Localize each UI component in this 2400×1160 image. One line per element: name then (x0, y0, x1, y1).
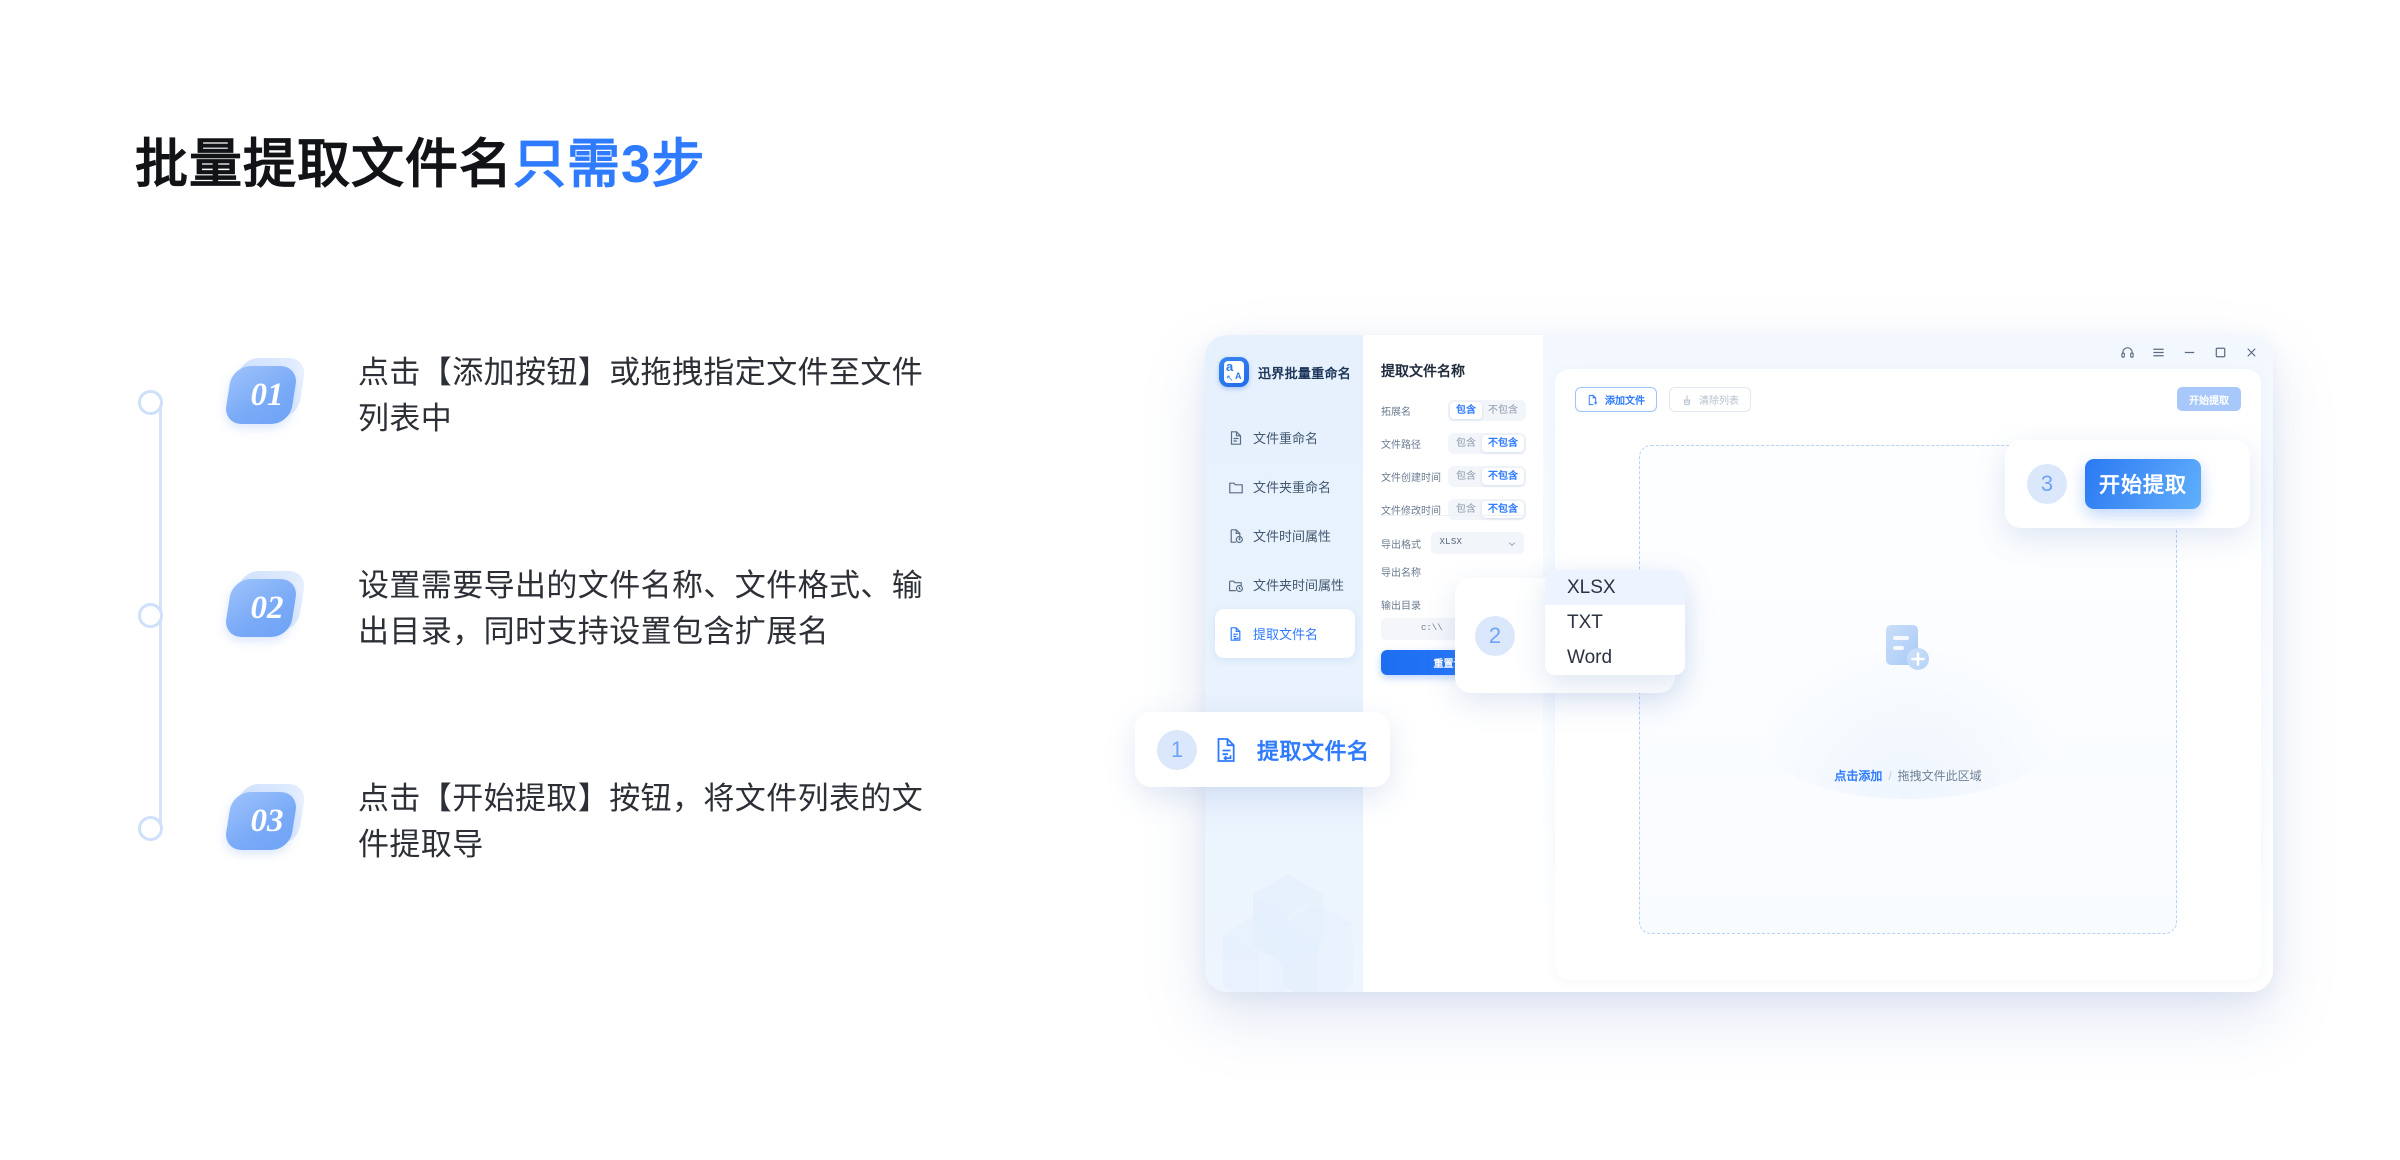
export-format-value: XLSX (1439, 537, 1462, 547)
dropzone-hint: 拖拽文件此区域 (1898, 769, 1982, 783)
brand: a ↖ A 迅界批量重命名 (1219, 357, 1351, 387)
app-sidebar: a ↖ A 迅界批量重命名 文件重命名 文件夹重命名 (1205, 335, 1363, 992)
window-titlebar (2120, 335, 2259, 369)
include-toggle[interactable]: 包含 不包含 (1448, 400, 1526, 421)
app-logo-icon: a ↖ A (1219, 357, 1249, 387)
timeline-dot-2 (138, 603, 163, 628)
add-files-button[interactable]: 添加文件 (1575, 387, 1657, 412)
minimize-icon[interactable] (2182, 345, 2197, 360)
dropdown-option-xlsx[interactable]: XLSX (1545, 570, 1685, 605)
hamburger-menu-icon[interactable] (2151, 345, 2166, 360)
settings-divider (1381, 515, 1526, 516)
sidebar-item-label: 文件夹重命名 (1253, 477, 1331, 496)
add-files-label: 添加文件 (1605, 392, 1645, 407)
step-number: 01 (228, 364, 306, 426)
toggle-exclude[interactable]: 不包含 (1482, 435, 1524, 452)
file-toolbar: 添加文件 清除列表 (1575, 387, 1751, 412)
export-format-dropdown-menu[interactable]: XLSX TXT Word (1545, 570, 1685, 675)
sidebar-item-folder-rename[interactable]: 文件夹重命名 (1215, 462, 1355, 511)
step-text: 点击【添加按钮】或拖拽指定文件至文件列表中 (358, 350, 938, 442)
toggle-include[interactable]: 包含 (1450, 468, 1482, 485)
headset-icon[interactable] (2120, 345, 2135, 360)
page-title: 批量提取文件名只需3步 (135, 122, 705, 198)
folder-clock-icon (1228, 577, 1244, 593)
export-format-field: 导出格式 XLSX (1381, 532, 1526, 554)
sidebar-item-label: 文件时间属性 (1253, 526, 1331, 545)
sidebar-item-file-time[interactable]: 文件时间属性 (1215, 511, 1355, 560)
output-dir-label: 输出目录 (1381, 597, 1427, 612)
setting-row-create-time: 文件创建时间 包含 不包含 (1381, 463, 1526, 489)
start-extract-button[interactable]: 开始提取 (2085, 459, 2201, 509)
file-add-icon (1880, 621, 1936, 677)
sidebar-item-label: 文件重命名 (1253, 428, 1318, 447)
dropzone-link[interactable]: 点击添加 (1834, 769, 1882, 783)
dropdown-option-txt[interactable]: TXT (1545, 605, 1685, 640)
output-dir-value: c:\\ (1421, 623, 1443, 633)
step-number: 03 (228, 790, 306, 852)
setting-label: 拓展名 (1381, 403, 1411, 418)
step-number: 02 (228, 577, 306, 639)
include-toggle[interactable]: 包含 不包含 (1448, 499, 1526, 520)
logo-arrow-icon: ↖ (1226, 374, 1234, 383)
logo-letter-b: A (1235, 372, 1242, 381)
step-item: 03 点击【开始提取】按钮，将文件列表的文件提取导 (228, 776, 948, 989)
callout-label: 提取文件名 (1257, 734, 1370, 766)
setting-label: 文件路径 (1381, 436, 1421, 451)
step-text: 设置需要导出的文件名称、文件格式、输出目录，同时支持设置包含扩展名 (358, 563, 938, 655)
setting-row-extension: 拓展名 包含 不包含 (1381, 397, 1526, 423)
brand-name: 迅界批量重命名 (1258, 363, 1351, 382)
logo-letter-a: a (1226, 360, 1233, 373)
export-format-select[interactable]: XLSX (1431, 532, 1524, 554)
file-extract-icon (1228, 626, 1244, 642)
file-icon (1228, 430, 1244, 446)
sidebar-item-folder-time[interactable]: 文件夹时间属性 (1215, 560, 1355, 609)
export-format-label: 导出格式 (1381, 536, 1427, 551)
folder-icon (1228, 479, 1244, 495)
decorative-cubes-icon (1213, 816, 1363, 992)
include-toggle[interactable]: 包含 不包含 (1448, 466, 1526, 487)
sidebar-item-file-rename[interactable]: 文件重命名 (1215, 413, 1355, 462)
callout-number: 1 (1157, 730, 1197, 770)
callout-step-1: 1 提取文件名 (1135, 712, 1390, 787)
clear-list-button[interactable]: 清除列表 (1669, 387, 1751, 412)
step-badge-2: 02 (228, 571, 306, 637)
dropzone-text: 点击添加/拖拽文件此区域 (1640, 767, 2176, 784)
clear-list-label: 清除列表 (1699, 392, 1739, 407)
toggle-include[interactable]: 包含 (1450, 402, 1482, 419)
settings-title: 提取文件名称 (1381, 361, 1465, 381)
sidebar-item-extract-filename[interactable]: 提取文件名 (1215, 609, 1355, 658)
steps-list: 01 点击【添加按钮】或拖拽指定文件至文件列表中 02 设置需要导出的文件名称、… (228, 350, 948, 989)
dropzone-separator: / (1888, 769, 1891, 783)
timeline-dot-1 (138, 390, 163, 415)
export-name-label: 导出名称 (1381, 564, 1427, 579)
include-toggle[interactable]: 包含 不包含 (1448, 433, 1526, 454)
chevron-down-icon (1508, 540, 1516, 548)
slide-root: 批量提取文件名只需3步 01 点击【添加按钮】或拖拽指定文件至文件列表中 02 … (0, 0, 2400, 1160)
sidebar-item-label: 文件夹时间属性 (1253, 575, 1344, 594)
file-extract-icon (1213, 736, 1241, 764)
settings-rows: 拓展名 包含 不包含 文件路径 包含 不包含 文件创建时间 (1381, 397, 1526, 529)
maximize-icon[interactable] (2213, 345, 2228, 360)
callout-number: 3 (2027, 464, 2067, 504)
setting-label: 文件创建时间 (1381, 469, 1441, 484)
page-title-accent: 只需3步 (513, 135, 705, 194)
toggle-exclude[interactable]: 不包含 (1482, 468, 1524, 485)
timeline-dot-3 (138, 816, 163, 841)
sidebar-nav: 文件重命名 文件夹重命名 文件时间属性 (1215, 413, 1355, 658)
step-item: 01 点击【添加按钮】或拖拽指定文件至文件列表中 (228, 350, 948, 563)
setting-row-modify-time: 文件修改时间 包含 不包含 (1381, 496, 1526, 522)
start-extract-button[interactable]: 开始提取 (2177, 387, 2241, 411)
toggle-include[interactable]: 包含 (1450, 435, 1482, 452)
step-badge-3: 03 (228, 784, 306, 850)
dropdown-option-word[interactable]: Word (1545, 640, 1685, 675)
step-text: 点击【开始提取】按钮，将文件列表的文件提取导 (358, 776, 938, 868)
step-item: 02 设置需要导出的文件名称、文件格式、输出目录，同时支持设置包含扩展名 (228, 563, 948, 776)
callout-number: 2 (1475, 616, 1515, 656)
step-badge-1: 01 (228, 358, 306, 424)
page-title-main: 批量提取文件名 (135, 135, 513, 194)
sidebar-item-label: 提取文件名 (1253, 624, 1318, 643)
file-add-icon (1587, 394, 1599, 406)
toggle-exclude[interactable]: 不包含 (1482, 402, 1524, 419)
app-window: a ↖ A 迅界批量重命名 文件重命名 文件夹重命名 (1205, 335, 2273, 992)
close-icon[interactable] (2244, 345, 2259, 360)
callout-step-3: 3 开始提取 (2005, 440, 2250, 528)
setting-row-filepath: 文件路径 包含 不包含 (1381, 430, 1526, 456)
file-clock-icon (1228, 528, 1244, 544)
steps-timeline (138, 390, 182, 840)
broom-icon (1681, 394, 1693, 406)
